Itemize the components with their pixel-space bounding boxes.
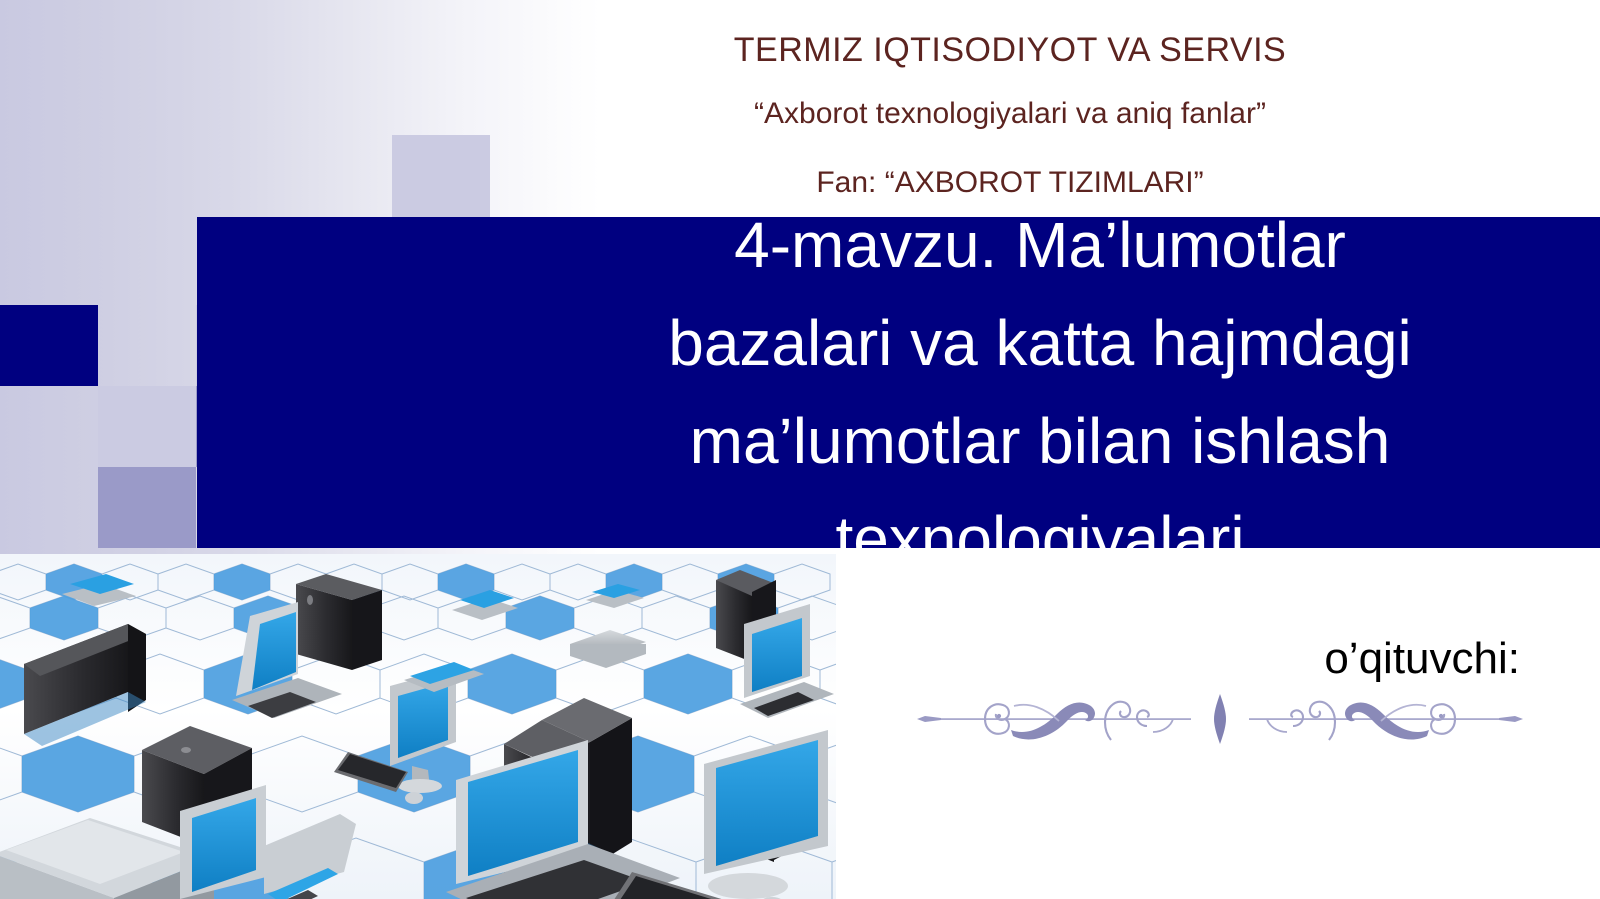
device-tower-mid-back [296,574,382,670]
decor-square-r3-c1 [98,386,196,467]
subject-name: Fan: “AXBOROT TIZIMLARI” [560,150,1460,216]
flourish-divider-ornament [915,688,1525,750]
header-text-block: TERMIZ IQTISODIYOT VA SERVIS “Axborot te… [560,22,1460,216]
teacher-label: o’qituvchi: [900,630,1520,688]
decor-square-r2-c0 [0,305,98,386]
institution-name: TERMIZ IQTISODIYOT VA SERVIS [560,22,1460,78]
title-band [197,217,1600,548]
presentation-slide: TERMIZ IQTISODIYOT VA SERVIS “Axborot te… [0,0,1600,899]
decor-square-r0-c4 [392,135,490,217]
computer-network-hexagon-tiles-photo [0,554,836,899]
decor-square-r4-c1 [98,467,196,548]
department-name: “Axborot texnologiyalari va aniq fanlar” [560,78,1460,150]
